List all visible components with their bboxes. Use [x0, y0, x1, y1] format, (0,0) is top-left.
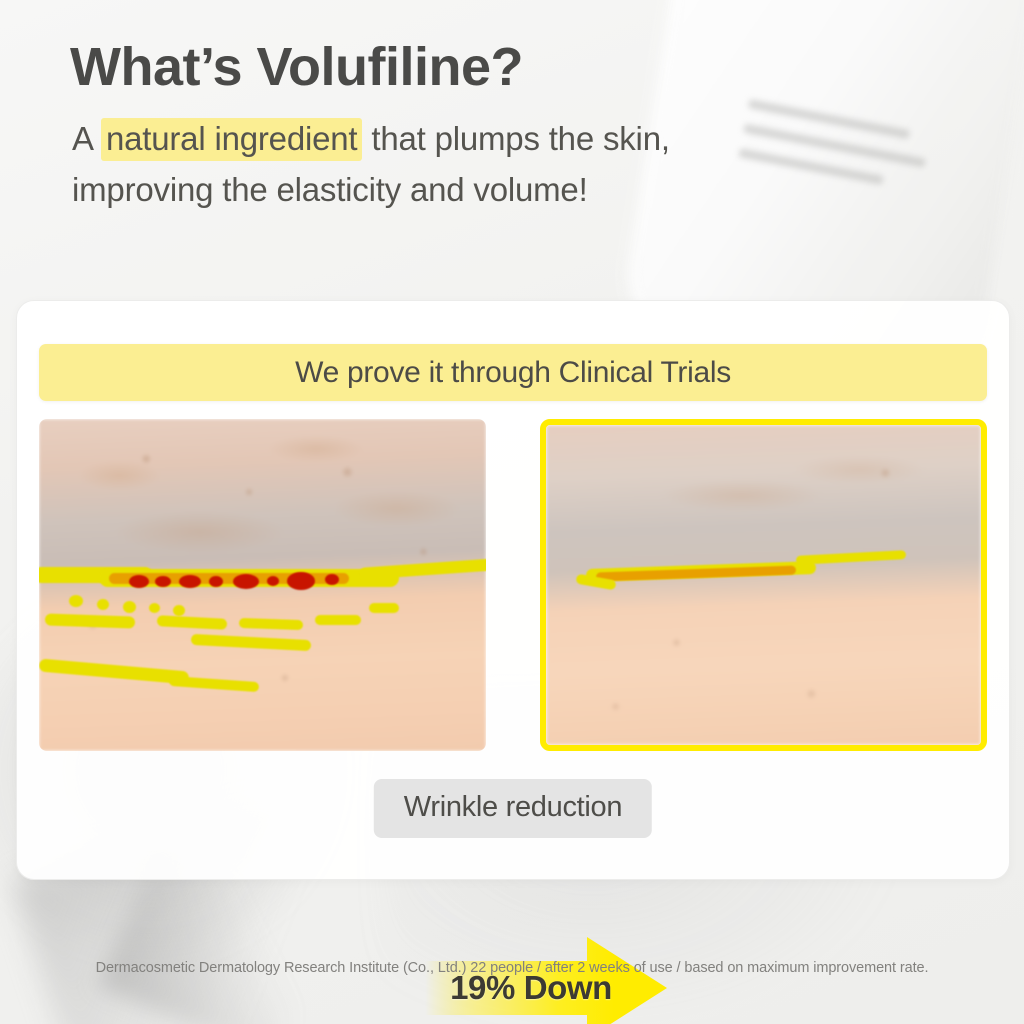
page-subtitle: A natural ingredient that plumps the ski…	[72, 113, 670, 216]
after-image	[540, 419, 987, 751]
header-block: What’s Volufiline? A natural ingredient …	[70, 36, 670, 216]
after-wrinkle-overlay	[546, 425, 981, 745]
reduction-percent-label: 19% Down	[425, 935, 637, 1024]
clinical-trial-banner-label: We prove it through Clinical Trials	[295, 356, 731, 390]
footnote: Dermacosmetic Dermatology Research Insti…	[0, 960, 1024, 976]
before-after-comparison: 19% Down	[39, 419, 987, 751]
subtitle-text-before: A	[72, 120, 101, 157]
clinical-result-card: We prove it through Clinical Trials	[16, 300, 1010, 880]
before-wrinkle-overlay	[39, 419, 486, 751]
before-image	[39, 419, 486, 751]
subtitle-text-after: that plumps the skin,	[362, 120, 669, 157]
subtitle-line-1: A natural ingredient that plumps the ski…	[72, 113, 670, 164]
page-title: What’s Volufiline?	[70, 36, 670, 99]
caption-pill-label: Wrinkle reduction	[404, 791, 622, 823]
caption-pill: Wrinkle reduction	[374, 779, 652, 838]
subtitle-line-2: improving the elasticity and volume!	[72, 164, 670, 215]
clinical-trial-banner: We prove it through Clinical Trials	[39, 344, 987, 401]
subtitle-highlight: natural ingredient	[101, 118, 362, 161]
